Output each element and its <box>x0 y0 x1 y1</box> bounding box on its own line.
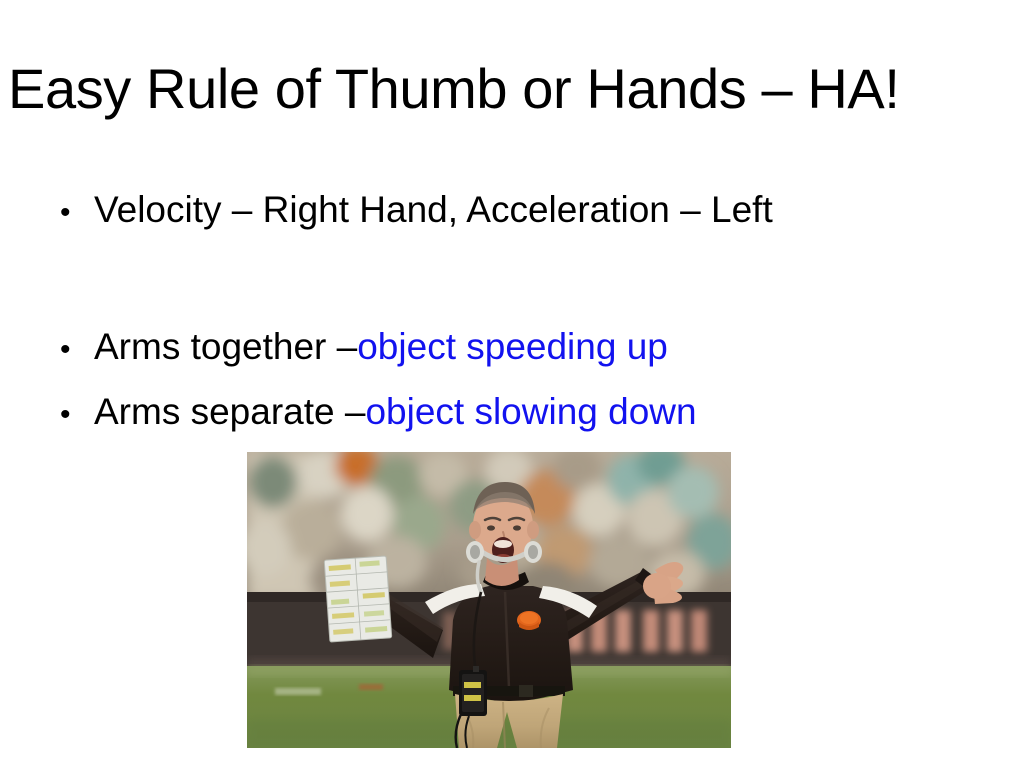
list-item-label: Arms separate – <box>94 388 365 436</box>
list-item: • Arms together – object speeding up <box>60 323 990 374</box>
bullet-list: • Velocity – Right Hand, Acceleration – … <box>60 186 990 439</box>
football-coach-photo <box>247 452 731 748</box>
play-sheet <box>324 556 392 642</box>
bullet-icon: • <box>60 326 94 374</box>
list-item-label: Arms together – <box>94 323 357 371</box>
list-item-accent: object speeding up <box>357 323 668 371</box>
list-item: • Velocity – Right Hand, Acceleration – … <box>60 186 990 237</box>
bullet-icon: • <box>60 189 94 237</box>
list-item: • Arms separate – object slowing down <box>60 388 990 439</box>
list-item-accent: object slowing down <box>365 388 696 436</box>
browns-logo <box>517 611 541 630</box>
page-title: Easy Rule of Thumb or Hands – HA! <box>8 56 1024 122</box>
bullet-icon: • <box>60 391 94 439</box>
slide-canvas: Easy Rule of Thumb or Hands – HA! • Velo… <box>0 0 1024 768</box>
list-item-label: Velocity – Right Hand, Acceleration – Le… <box>94 186 773 234</box>
